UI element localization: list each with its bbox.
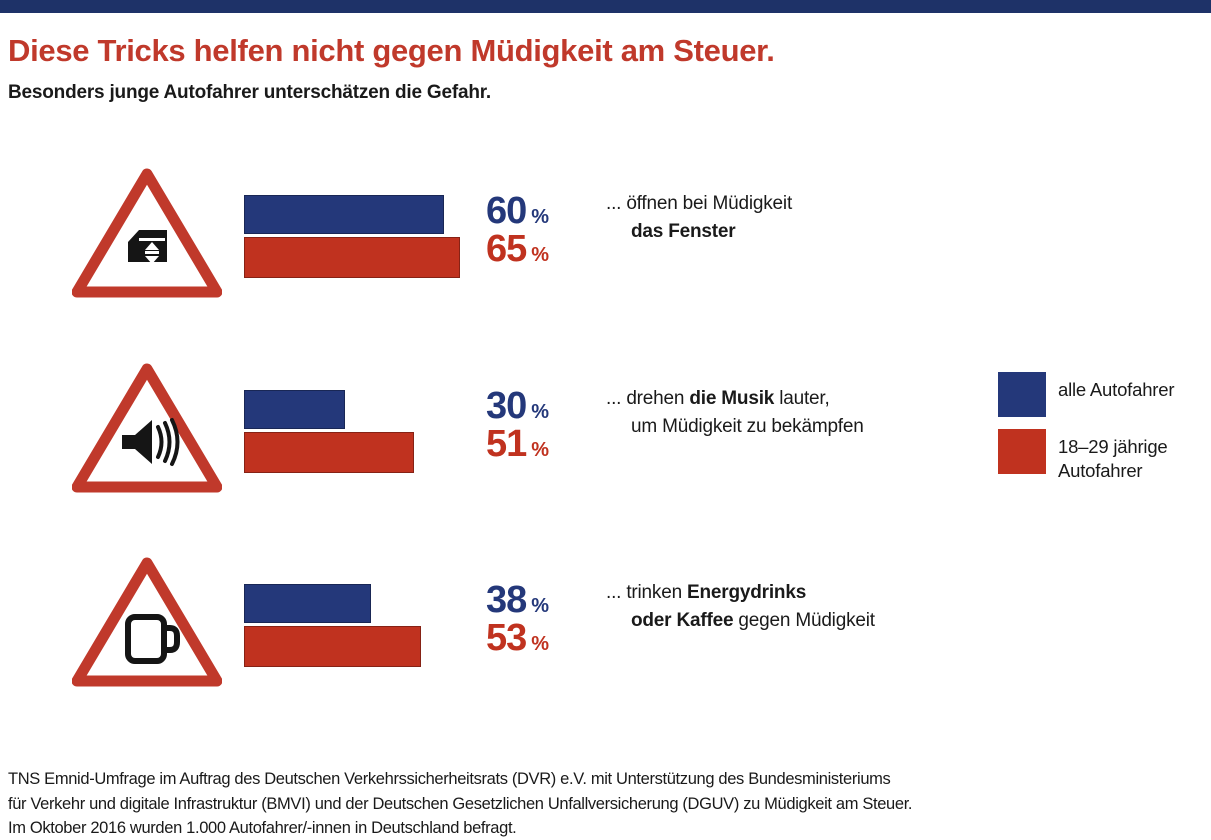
value-red-1: 65% [486, 230, 549, 268]
car-window-icon [72, 168, 222, 298]
bar-blue-2 [244, 390, 345, 429]
value-blue-number-2: 30 [486, 385, 526, 427]
bar-red-1 [244, 237, 460, 278]
legend-swatch-red [998, 429, 1046, 474]
value-red-percent-1: % [531, 244, 549, 266]
description-3: ... trinken Energydrinks oder Kaffee geg… [606, 579, 976, 635]
description-1-line-1: ... öffnen bei Müdigkeit [606, 190, 976, 218]
legend-label-all-drivers-line-1: alle Autofahrer [1058, 378, 1211, 402]
bar-blue-3 [244, 584, 371, 623]
chart-row-3: 38% 53% ... trinken Energydrinks oder Ka… [0, 557, 1211, 687]
source-note-line-3: Im Oktober 2016 wurden 1.000 Autofahrer/… [8, 816, 1203, 840]
description-3-line-2-bold: oder Kaffee [631, 610, 733, 631]
source-note-line-2: für Verkehr und digitale Infrastruktur (… [8, 792, 1203, 817]
description-2-line-2: um Müdigkeit zu bekämpfen [606, 413, 976, 441]
value-red-percent-3: % [531, 633, 549, 655]
infographic-root: Diese Tricks helfen nicht gegen Müdigkei… [0, 0, 1211, 840]
value-red-percent-2: % [531, 439, 549, 461]
value-blue-number-3: 38 [486, 579, 526, 621]
value-red-3: 53% [486, 619, 549, 657]
description-1-line-2-bold: das Fenster [631, 221, 735, 242]
bar-red-2 [244, 432, 414, 473]
value-red-2: 51% [486, 425, 549, 463]
legend-item-all-drivers: alle Autofahrer [998, 372, 1211, 422]
legend-label-young-drivers-line-2: Autofahrer [1058, 459, 1211, 483]
bar-blue-1 [244, 195, 444, 234]
value-blue-3: 38% [486, 581, 549, 619]
description-3-line-1: ... trinken Energydrinks [606, 579, 976, 607]
description-3-line-2-rest: gegen Müdigkeit [733, 610, 875, 631]
description-2-line-1: ... drehen die Musik lauter, [606, 385, 976, 413]
description-2-line-1-prefix: ... drehen [606, 388, 689, 409]
page-subtitle: Besonders junge Autofahrer unterschätzen… [8, 82, 491, 104]
value-red-number-1: 65 [486, 228, 526, 270]
legend-item-young-drivers: 18–29 jährige Autofahrer [998, 429, 1211, 479]
description-1-line-2: das Fenster [606, 218, 976, 246]
value-blue-1: 60% [486, 192, 549, 230]
coffee-cup-icon [72, 557, 222, 687]
description-3-line-1-prefix: ... trinken [606, 582, 687, 603]
legend-swatch-blue [998, 372, 1046, 417]
legend-label-young-drivers-line-1: 18–29 jährige [1058, 435, 1211, 459]
legend-label-young-drivers: 18–29 jährige Autofahrer [1058, 435, 1211, 483]
value-blue-number-1: 60 [486, 190, 526, 232]
description-1: ... öffnen bei Müdigkeit das Fenster [606, 190, 976, 246]
description-2-line-1-bold: die Musik [689, 388, 774, 409]
value-blue-2: 30% [486, 387, 549, 425]
value-red-number-3: 53 [486, 617, 526, 659]
source-note-line-1: TNS Emnid-Umfrage im Auftrag des Deutsch… [8, 767, 1203, 792]
page-title: Diese Tricks helfen nicht gegen Müdigkei… [8, 33, 775, 69]
value-blue-percent-3: % [531, 595, 549, 617]
speaker-icon [72, 363, 222, 493]
source-note: TNS Emnid-Umfrage im Auftrag des Deutsch… [8, 767, 1203, 840]
description-2-line-1-rest: lauter, [774, 388, 829, 409]
chart-row-1: 60% 65% ... öffnen bei Müdigkeit das Fen… [0, 168, 1211, 298]
description-3-line-1-bold: Energydrinks [687, 582, 806, 603]
value-blue-percent-1: % [531, 206, 549, 228]
top-accent-bar [0, 0, 1211, 13]
legend-label-all-drivers: alle Autofahrer [1058, 378, 1211, 402]
description-3-line-2: oder Kaffee gegen Müdigkeit [606, 607, 976, 635]
value-red-number-2: 51 [486, 423, 526, 465]
description-2: ... drehen die Musik lauter, um Müdigkei… [606, 385, 976, 441]
value-blue-percent-2: % [531, 401, 549, 423]
bar-red-3 [244, 626, 421, 667]
